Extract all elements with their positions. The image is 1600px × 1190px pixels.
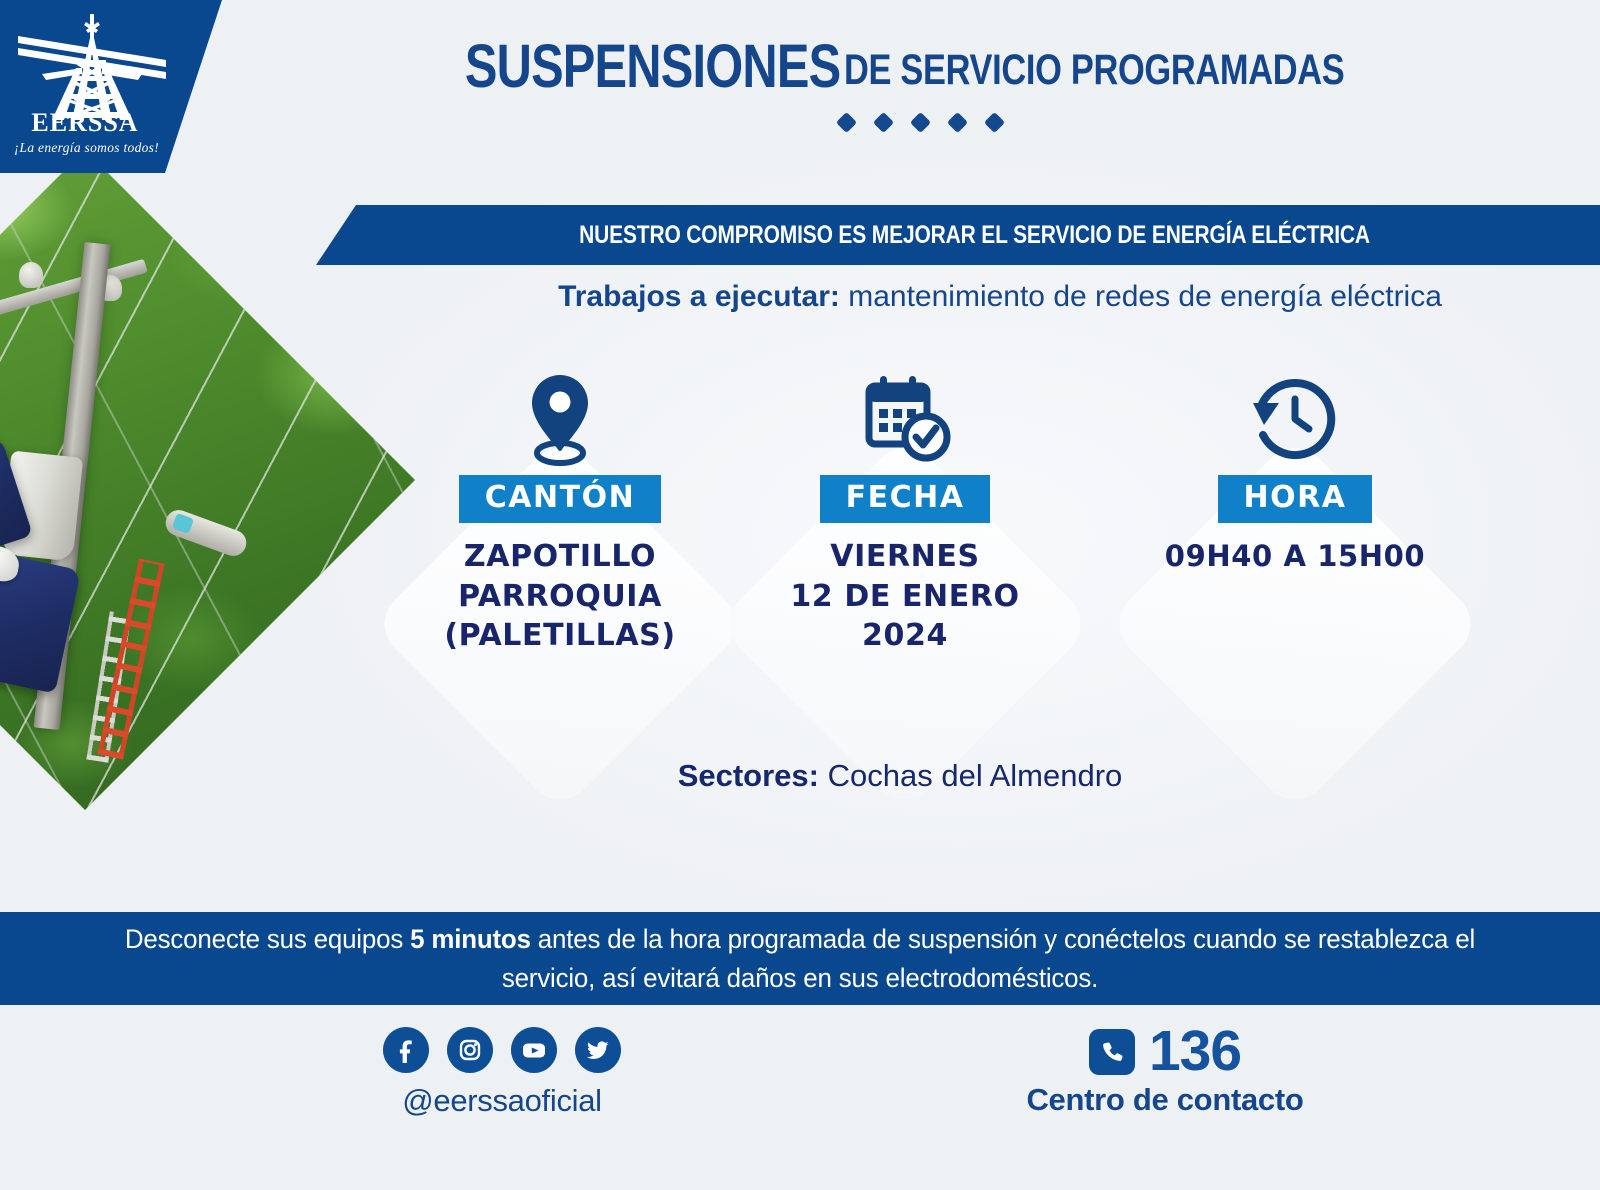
divider-dot bbox=[909, 112, 930, 133]
page-title-rest: DE SERVICIO PROGRAMADAS bbox=[844, 49, 1344, 92]
card-content: HORA 09H40 A 15H00 bbox=[1105, 355, 1485, 575]
facebook-icon[interactable] bbox=[383, 1027, 429, 1073]
twitter-icon[interactable] bbox=[575, 1027, 621, 1073]
info-cards: CANTÓN ZAPOTILLO PARROQUIA (PALETILLAS) bbox=[370, 355, 1520, 755]
social-icon-row bbox=[372, 1027, 632, 1073]
divider-dot bbox=[983, 112, 1004, 133]
contact-row: 136 bbox=[1000, 1023, 1330, 1080]
card-content: FECHA VIERNES 12 DE ENERO 2024 bbox=[715, 355, 1095, 656]
brand-logo-badge: EERSSA ¡La energía somos todos! bbox=[0, 0, 222, 173]
info-card-canton: CANTÓN ZAPOTILLO PARROQUIA (PALETILLAS) bbox=[370, 355, 750, 735]
divider-dot bbox=[946, 112, 967, 133]
sectors-value: Cochas del Almendro bbox=[828, 758, 1123, 793]
works-value: mantenimiento de redes de energía eléctr… bbox=[848, 280, 1442, 313]
card-tag-canton: CANTÓN bbox=[459, 475, 661, 523]
commitment-banner: NUESTRO COMPROMISO ES MEJORAR EL SERVICI… bbox=[316, 205, 1600, 265]
divider-dot bbox=[835, 112, 856, 133]
sectors-label: Sectores: bbox=[678, 758, 819, 793]
notice-bar: Desconecte sus equipos 5 minutos antes d… bbox=[0, 912, 1600, 1005]
phone-icon bbox=[1089, 1029, 1135, 1075]
page-footer: @eerssaoficial 136 Centro de contacto bbox=[0, 1005, 1600, 1190]
clock-rotate-icon bbox=[1105, 369, 1485, 469]
location-pin-icon bbox=[370, 369, 750, 469]
page-title: SUSPENSIONESDE SERVICIO PROGRAMADAS bbox=[240, 36, 1600, 97]
info-card-hora: HORA 09H40 A 15H00 bbox=[1105, 355, 1485, 735]
poster-root: EERSSA ¡La energía somos todos! SUSPENSI… bbox=[0, 0, 1600, 1190]
card-content: CANTÓN ZAPOTILLO PARROQUIA (PALETILLAS) bbox=[370, 355, 750, 656]
page-title-strong: SUSPENSIONES bbox=[464, 36, 839, 97]
brand-name: EERSSA bbox=[10, 108, 160, 138]
card-value-fecha: VIERNES 12 DE ENERO 2024 bbox=[715, 537, 1095, 656]
card-value-canton: ZAPOTILLO PARROQUIA (PALETILLAS) bbox=[370, 537, 750, 656]
instagram-icon[interactable] bbox=[447, 1027, 493, 1073]
brand-slogan: ¡La energía somos todos! bbox=[4, 140, 169, 156]
notice-part2: antes de la hora programada de suspensió… bbox=[502, 924, 1475, 992]
contact-block: 136 Centro de contacto bbox=[1000, 1023, 1330, 1118]
sectors-line: Sectores: Cochas del Almendro bbox=[300, 758, 1500, 794]
social-block: @eerssaoficial bbox=[372, 1027, 632, 1119]
commitment-banner-text: NUESTRO COMPROMISO ES MEJORAR EL SERVICI… bbox=[546, 221, 1370, 250]
works-to-execute: Trabajos a ejecutar: mantenimiento de re… bbox=[400, 280, 1600, 314]
notice-text: Desconecte sus equipos 5 minutos antes d… bbox=[118, 920, 1481, 997]
social-handle[interactable]: @eerssaoficial bbox=[372, 1083, 632, 1119]
card-value-hora: 09H40 A 15H00 bbox=[1105, 537, 1485, 575]
title-dot-divider bbox=[240, 115, 1600, 130]
contact-number: 136 bbox=[1149, 1023, 1241, 1080]
youtube-icon[interactable] bbox=[511, 1027, 557, 1073]
card-tag-hora: HORA bbox=[1218, 475, 1373, 523]
contact-label: Centro de contacto bbox=[1000, 1082, 1330, 1118]
notice-part1: Desconecte sus equipos bbox=[125, 924, 410, 954]
insulator-a bbox=[19, 262, 43, 288]
works-label: Trabajos a ejecutar: bbox=[558, 280, 840, 313]
calendar-check-icon bbox=[715, 369, 1095, 469]
divider-dot bbox=[872, 112, 893, 133]
card-tag-fecha: FECHA bbox=[820, 475, 991, 523]
info-card-fecha: FECHA VIERNES 12 DE ENERO 2024 bbox=[715, 355, 1095, 735]
notice-bold: 5 minutos bbox=[410, 924, 531, 954]
street-light bbox=[162, 506, 250, 559]
page-header: SUSPENSIONESDE SERVICIO PROGRAMADAS bbox=[240, 36, 1600, 130]
